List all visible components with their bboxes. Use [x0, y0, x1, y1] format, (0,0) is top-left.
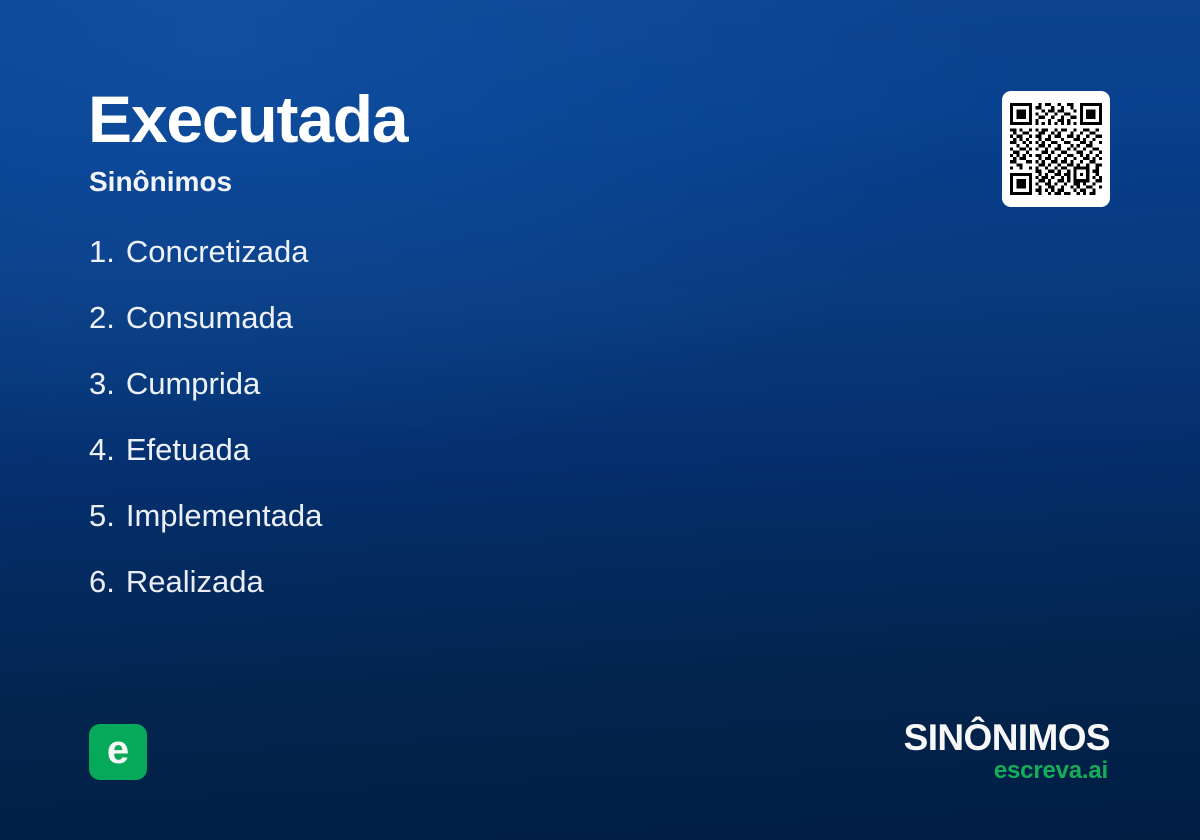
brand-badge-letter: e	[107, 730, 129, 770]
list-item-index: 3.	[89, 368, 115, 399]
qr-code[interactable]	[1002, 91, 1110, 207]
synonym-card: Executada Sinônimos 1. Concretizada 2. C…	[0, 0, 1200, 840]
list-item-label: Cumprida	[126, 368, 260, 399]
synonym-list: 1. Concretizada 2. Consumada 3. Cumprida…	[89, 236, 729, 632]
list-item-index: 5.	[89, 500, 115, 531]
footer-logo[interactable]: SINÔNIMOS escreva.ai	[904, 719, 1110, 783]
qr-code-icon	[1010, 103, 1102, 195]
list-item-label: Concretizada	[126, 236, 309, 267]
list-item-label: Realizada	[126, 566, 264, 597]
escreva-logo-icon[interactable]: e	[89, 724, 147, 780]
list-item-label: Efetuada	[126, 434, 250, 465]
list-item: 2. Consumada	[89, 302, 729, 368]
list-item: 6. Realizada	[89, 566, 729, 632]
list-item-label: Consumada	[126, 302, 293, 333]
list-item-index: 4.	[89, 434, 115, 465]
list-item-index: 2.	[89, 302, 115, 333]
footer-tagline: escreva.ai	[904, 759, 1108, 783]
list-item: 3. Cumprida	[89, 368, 729, 434]
list-item-index: 6.	[89, 566, 115, 597]
page-title: Executada	[88, 86, 407, 152]
list-item-index: 1.	[89, 236, 115, 267]
list-item-label: Implementada	[126, 500, 322, 531]
list-item: 1. Concretizada	[89, 236, 729, 302]
footer-wordmark: SINÔNIMOS	[904, 719, 1110, 756]
list-item: 5. Implementada	[89, 500, 729, 566]
list-item: 4. Efetuada	[89, 434, 729, 500]
page-subtitle: Sinônimos	[89, 167, 232, 198]
